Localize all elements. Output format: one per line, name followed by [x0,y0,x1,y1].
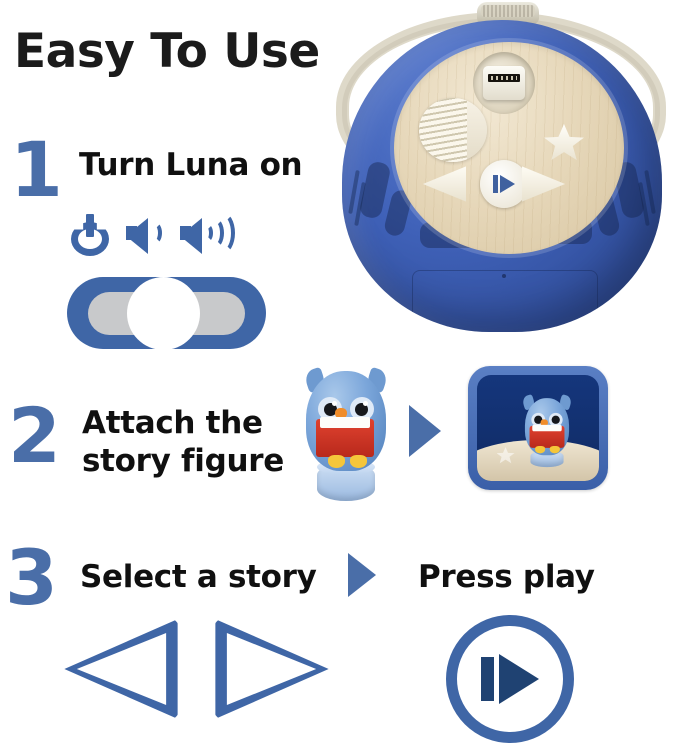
usb-connector-well [473,52,535,114]
step-label-1: Turn Luna on [79,148,302,183]
play-icon-bar [493,175,498,193]
owl-book-pages [320,417,370,428]
device-battery-door [412,270,598,330]
play-button-triangle [499,654,539,704]
owl-attached-on-device-preview [468,366,608,490]
volume-low-icon-wave [148,222,162,244]
arrow-right-icon-step2 [409,405,441,457]
device-body [342,20,662,332]
speaker-grille [419,98,487,162]
next-story-triangle-button[interactable] [213,617,331,721]
play-button[interactable] [446,615,574,743]
owl-foot-left [328,455,345,468]
step-number-1: 1 [10,132,63,208]
step-number-3: 3 [5,540,58,616]
volume-high-icon [180,212,242,260]
owl-eye-glint-left [332,401,337,406]
step-label-3: Select a story [80,560,317,595]
preview-owl-figure [521,394,573,469]
step-number-2: 2 [8,398,61,474]
usb-connector[interactable] [483,66,525,100]
owl-story-figure[interactable] [300,363,392,503]
preview-owl-book-pages [532,425,561,431]
device-face-panel [394,42,624,254]
page-title: Easy To Use [14,28,320,75]
arrow-right-icon-step3 [348,553,376,597]
volume-low-icon-cone [126,218,148,254]
step1-icon-row [70,212,242,260]
volume-low-icon [126,212,166,260]
play-icon-triangle [500,175,515,193]
preview-owl-foot-right [550,446,560,453]
owl-eye-glint-right [363,401,368,406]
poster-canvas: Easy To Use 1 Turn Luna on [0,0,679,751]
owl-foot-right [350,455,367,468]
previous-button-fill [74,629,168,709]
volume-high-icon-cone [180,218,202,254]
power-toggle-switch[interactable] [67,277,266,349]
usb-connector-slot [488,74,520,82]
power-icon [70,214,112,258]
volume-high-icon-wave-3 [210,212,235,254]
step-label-2-line1: Attach the [82,406,263,441]
luna-story-speaker[interactable] [330,2,675,342]
play-button-bar [481,657,494,701]
power-icon-stem [86,214,94,237]
device-play-button[interactable] [480,160,528,208]
preview-owl-foot-left [535,446,545,453]
step-label-3-secondary: Press play [418,560,595,595]
preview-owl-pupil-right [552,416,560,424]
previous-story-triangle-button[interactable] [62,617,180,721]
preview-inner [477,375,599,481]
next-button-fill [225,629,319,709]
toggle-knob[interactable] [127,277,200,350]
step-label-2-line2: story figure [82,444,284,479]
toggle-track [88,292,245,335]
